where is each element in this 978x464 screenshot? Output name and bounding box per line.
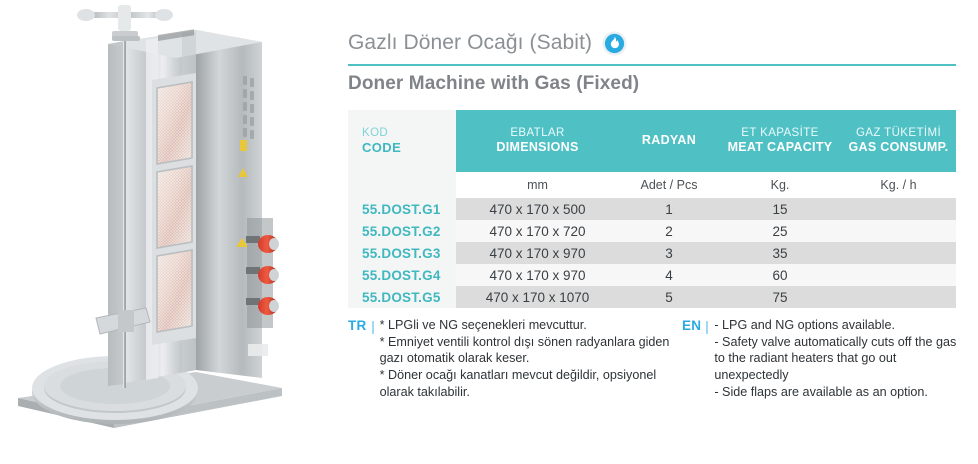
cell-gas — [841, 220, 956, 242]
cell-gas — [841, 198, 956, 220]
radiant-plate — [157, 82, 192, 164]
table-header: KOD CODE EBATLAR DIMENSIONS RADYAN ET KA… — [348, 110, 956, 172]
cell-code: 55.DOST.G2 — [348, 220, 456, 242]
column-header-dimensions: EBATLAR DIMENSIONS — [456, 110, 619, 172]
cell-dimensions: 470 x 170 x 500 — [456, 198, 619, 220]
cell-dimensions: 470 x 170 x 970 — [456, 264, 619, 286]
doner-machine-illustration — [0, 0, 332, 464]
cell-dimensions: 470 x 170 x 720 — [456, 220, 619, 242]
title-divider — [348, 64, 956, 66]
lang-divider — [372, 321, 374, 334]
header-en-label: GAS CONSUMP. — [841, 140, 956, 156]
footnote-line: - Side flaps are available as an option. — [714, 384, 962, 401]
cell-gas — [841, 242, 956, 264]
header-en-label: CODE — [362, 140, 456, 156]
lang-label-tr: TR — [348, 317, 367, 333]
cell-capacity: 35 — [719, 242, 841, 264]
unit-dimensions: mm — [456, 172, 619, 198]
spec-content: Gazlı Döner Ocağı (Sabit) Doner Machine … — [332, 0, 978, 464]
column-header-code: KOD CODE — [348, 110, 456, 172]
footnote-line: - Safety valve automatically cuts off th… — [714, 334, 962, 384]
header-en-label: MEAT CAPACITY — [719, 140, 841, 156]
product-spec-sheet: Gazlı Döner Ocağı (Sabit) Doner Machine … — [0, 0, 978, 464]
footnotes: TR * LPGli ve NG seçenekleri mevcuttur. … — [348, 317, 962, 401]
footnote-line: * Döner ocağı kanatları mevcut değildir,… — [380, 367, 676, 400]
column-header-radyan: RADYAN — [619, 110, 719, 172]
unit-capacity: Kg. — [719, 172, 841, 198]
footnote-tr-body: * LPGli ve NG seçenekleri mevcuttur. * E… — [380, 317, 676, 401]
header-tr-label: KOD — [362, 126, 456, 140]
table-row: 55.DOST.G5 470 x 170 x 1070 5 75 — [348, 286, 956, 308]
product-title-tr: Gazlı Döner Ocağı (Sabit) — [348, 31, 592, 55]
skewer-handle — [77, 5, 173, 38]
specifications-table: KOD CODE EBATLAR DIMENSIONS RADYAN ET KA… — [348, 110, 956, 308]
unit-radyan: Adet / Pcs — [619, 172, 719, 198]
cell-dimensions: 470 x 170 x 970 — [456, 242, 619, 264]
cell-capacity: 75 — [719, 286, 841, 308]
product-photo — [0, 0, 332, 464]
table-row: 55.DOST.G4 470 x 170 x 970 4 60 — [348, 264, 956, 286]
cell-radyan: 2 — [619, 220, 719, 242]
cell-radyan: 3 — [619, 242, 719, 264]
unit-code — [348, 172, 456, 198]
column-header-meat-capacity: ET KAPASİTE MEAT CAPACITY — [719, 110, 841, 172]
table-row: 55.DOST.G3 470 x 170 x 970 3 35 — [348, 242, 956, 264]
cell-capacity: 60 — [719, 264, 841, 286]
footnote-line: - LPG and NG options available. — [714, 317, 962, 334]
lang-divider — [706, 321, 708, 334]
cell-gas — [841, 286, 956, 308]
table-row: 55.DOST.G1 470 x 170 x 500 1 15 — [348, 198, 956, 220]
radiant-plate — [157, 250, 192, 332]
cell-code: 55.DOST.G1 — [348, 198, 456, 220]
footnote-tr: TR * LPGli ve NG seçenekleri mevcuttur. … — [348, 317, 682, 401]
cell-code: 55.DOST.G4 — [348, 264, 456, 286]
product-title-tr-row: Gazlı Döner Ocağı (Sabit) — [348, 28, 956, 58]
cell-dimensions: 470 x 170 x 1070 — [456, 286, 619, 308]
cell-radyan: 4 — [619, 264, 719, 286]
cell-code: 55.DOST.G3 — [348, 242, 456, 264]
table-units-row: mm Adet / Pcs Kg. Kg. / h — [348, 172, 956, 198]
unit-gas: Kg. / h — [841, 172, 956, 198]
cell-gas — [841, 264, 956, 286]
table-body: 55.DOST.G1 470 x 170 x 500 1 15 55.DOST.… — [348, 198, 956, 308]
cell-capacity: 15 — [719, 198, 841, 220]
cell-code: 55.DOST.G5 — [348, 286, 456, 308]
lang-label-en: EN — [682, 317, 701, 333]
cell-radyan: 5 — [619, 286, 719, 308]
footnote-en: EN - LPG and NG options available. - Saf… — [682, 317, 962, 401]
table-row: 55.DOST.G2 470 x 170 x 720 2 25 — [348, 220, 956, 242]
warning-label — [240, 140, 247, 151]
header-en-label: DIMENSIONS — [456, 140, 619, 156]
product-title-en: Doner Machine with Gas (Fixed) — [348, 73, 956, 95]
header-tr-label: GAZ TÜKETİMİ — [841, 126, 956, 140]
footnote-line: * Emniyet ventili kontrol dışı sönen rad… — [380, 334, 676, 367]
header-tr-label: EBATLAR — [456, 126, 619, 140]
cell-radyan: 1 — [619, 198, 719, 220]
radiant-plate — [157, 166, 192, 248]
column-header-gas-consumption: GAZ TÜKETİMİ GAS CONSUMP. — [841, 110, 956, 172]
header-tr-label: ET KAPASİTE — [719, 126, 841, 140]
gas-flame-icon — [602, 31, 627, 56]
footnote-en-body: - LPG and NG options available. - Safety… — [714, 317, 962, 401]
header-en-label: RADYAN — [619, 133, 719, 149]
cell-capacity: 25 — [719, 220, 841, 242]
footnote-line: * LPGli ve NG seçenekleri mevcuttur. — [380, 317, 676, 334]
